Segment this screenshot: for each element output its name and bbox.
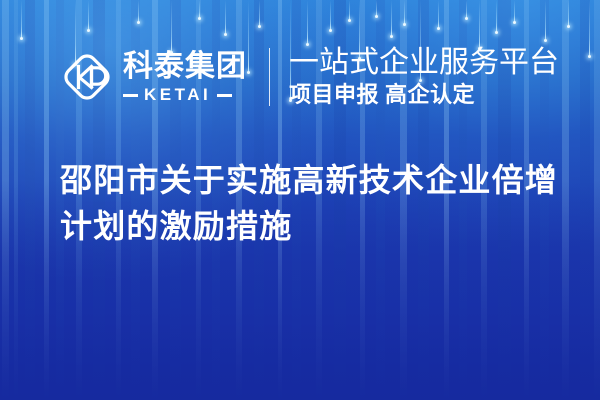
particle-trail-icon: [568, 0, 569, 26]
tagline-primary: 一站式企业服务平台: [289, 46, 559, 79]
particle-trail-icon: [466, 0, 467, 18]
tagline-secondary: 项目申报 高企认定: [289, 82, 559, 108]
dash-right-icon: [217, 94, 232, 97]
header-divider: [269, 48, 270, 106]
particle-trail-icon: [376, 0, 377, 16]
background-streak: [44, 0, 49, 400]
particle-trail-icon: [138, 0, 139, 22]
background-streak: [25, 0, 35, 400]
particle-trail-icon: [259, 0, 260, 26]
particle-trail-icon: [307, 0, 308, 44]
particle-trail-icon: [225, 0, 226, 34]
particle-trail-icon: [479, 0, 480, 48]
brand-wordmark: 科泰集团 KETAI: [123, 50, 247, 104]
particle-trail-icon: [171, 0, 172, 52]
dash-left-icon: [123, 94, 138, 97]
brand-name-latin: KETAI: [144, 86, 211, 104]
particle-trail-icon: [349, 0, 350, 20]
particle-trail-icon: [199, 0, 200, 18]
brand-header: 科泰集团 KETAI 一站式企业服务平台 项目申报 高企认定: [60, 46, 559, 108]
background-streak: [14, 0, 18, 400]
particle-trail-icon: [496, 0, 497, 32]
particle-trail-icon: [88, 0, 89, 30]
page-title: 邵阳市关于实施高新技术企业倍增计划的激励措施: [60, 157, 560, 249]
particle-trail-icon: [330, 0, 331, 30]
particle-trail-icon: [589, 0, 590, 56]
particle-trail-icon: [21, 0, 22, 38]
particle-trail-icon: [391, 0, 392, 36]
particle-trail-icon: [545, 0, 546, 40]
background-streak: [2, 0, 9, 400]
brand-name-cn: 科泰集团: [123, 50, 247, 84]
background-streak: [594, 0, 600, 400]
particle-trail-icon: [438, 0, 439, 28]
brand-latin-row: KETAI: [123, 86, 247, 104]
particle-trail-icon: [404, 0, 405, 24]
background-streak: [580, 0, 590, 400]
particle-trail-icon: [514, 0, 515, 22]
promo-banner: 科泰集团 KETAI 一站式企业服务平台 项目申报 高企认定 邵阳市关于实施高新…: [0, 0, 600, 400]
tagline-block: 一站式企业服务平台 项目申报 高企认定: [289, 46, 559, 108]
ketai-diamond-monogram-icon: [60, 50, 114, 104]
background-streak: [562, 0, 569, 400]
